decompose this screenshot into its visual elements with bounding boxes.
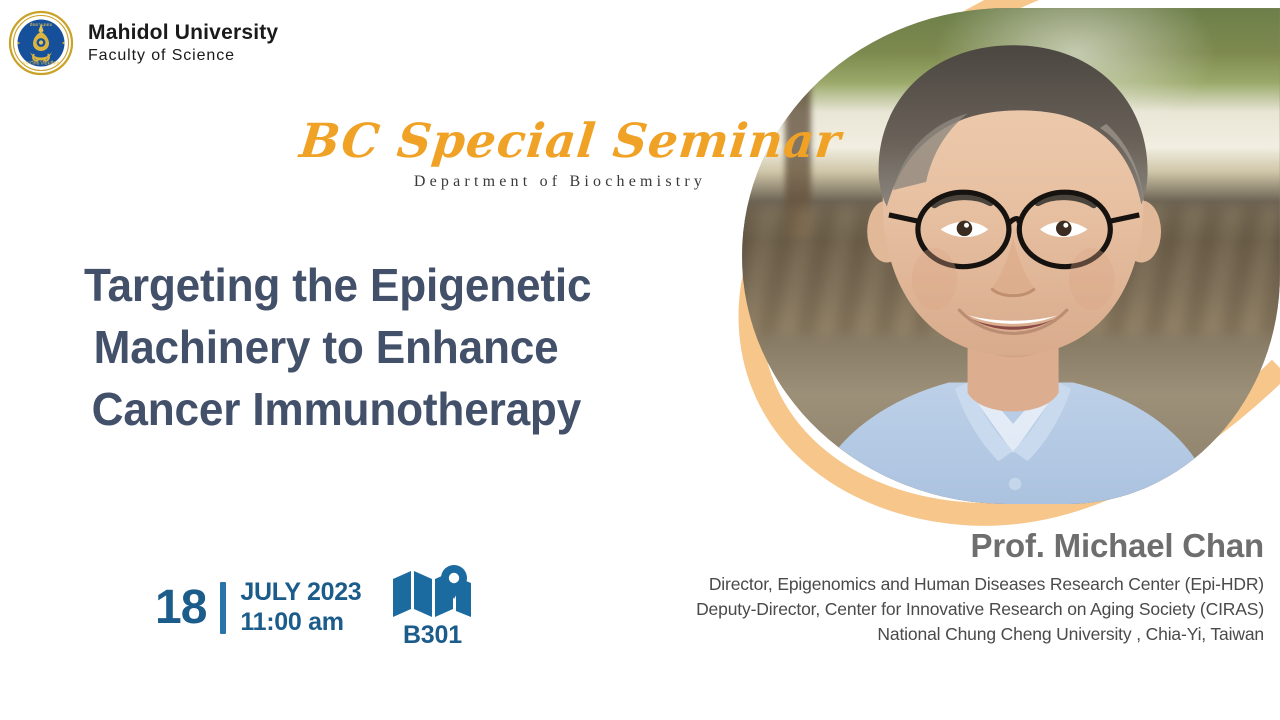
affiliation-line-1: Director, Epigenomics and Human Diseases… xyxy=(564,572,1264,597)
venue-room: B301 xyxy=(403,621,462,650)
university-name: Mahidol University xyxy=(88,20,278,46)
speaker-affiliation: Director, Epigenomics and Human Diseases… xyxy=(564,572,1264,647)
event-details: 18 JULY 2023 11:00 am B301 xyxy=(155,565,473,650)
svg-text:มหาวิทยาลัยมหิดล: มหาวิทยาลัยมหิดล xyxy=(23,60,60,67)
title-line-1: Targeting the Epigenetic xyxy=(84,254,698,316)
page-title: Targeting the Epigenetic Machinery to En… xyxy=(84,254,698,440)
svg-text:อัตตานุตตม: อัตตานุตตม xyxy=(30,22,53,28)
title-line-3: Cancer Immunotherapy xyxy=(84,378,698,440)
brand-text: Mahidol University Faculty of Science xyxy=(88,20,278,65)
brand-header: อัตตานุตตม มหาวิทยาลัยมหิดล Mahidol Univ… xyxy=(8,10,278,76)
affiliation-line-2: Deputy-Director, Center for Innovative R… xyxy=(564,597,1264,622)
speaker-photo xyxy=(742,8,1280,504)
map-location-pin-icon xyxy=(391,565,473,623)
faculty-name: Faculty of Science xyxy=(88,46,278,66)
seminar-department: Department of Biochemistry xyxy=(390,173,730,191)
affiliation-line-3: National Chung Cheng University , Chia-Y… xyxy=(564,622,1264,647)
divider xyxy=(220,582,226,634)
speaker-name: Prof. Michael Chan xyxy=(564,528,1264,564)
mahidol-university-seal-icon: อัตตานุตตม มหาวิทยาลัยมหิดล xyxy=(8,10,74,76)
seminar-poster: อัตตานุตตม มหาวิทยาลัยมหิดล Mahidol Univ… xyxy=(0,0,1280,720)
event-when: JULY 2023 11:00 am xyxy=(240,578,361,637)
event-month-year: JULY 2023 xyxy=(240,578,361,608)
speaker-photo-panel xyxy=(720,0,1280,526)
event-time: 11:00 am xyxy=(240,608,361,638)
speaker-info: Prof. Michael Chan Director, Epigenomics… xyxy=(564,528,1264,647)
event-venue: B301 xyxy=(391,565,473,650)
seminar-script-title: BC Special Seminar xyxy=(298,118,733,165)
seminar-heading: BC Special Seminar Department of Biochem… xyxy=(300,118,730,191)
event-day: 18 xyxy=(155,584,206,632)
title-line-2: Machinery to Enhance xyxy=(84,316,698,378)
